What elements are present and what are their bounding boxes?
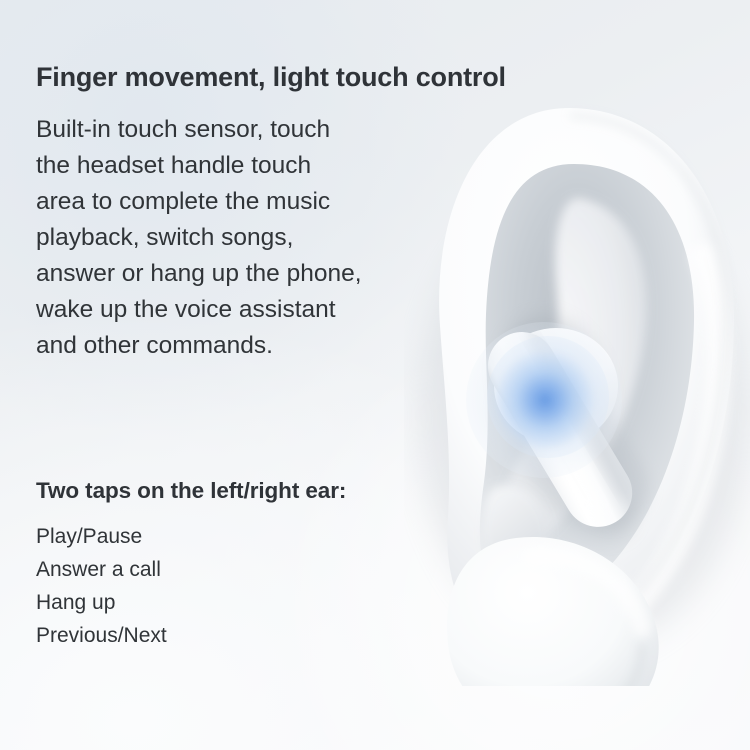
product-feature-card: Finger movement, light touch control Bui… bbox=[0, 0, 750, 750]
body-line: area to complete the music bbox=[36, 184, 416, 220]
body-line: wake up the voice assistant bbox=[36, 292, 416, 328]
list-item: Play/Pause bbox=[36, 520, 167, 553]
human-ear bbox=[404, 86, 750, 686]
body-copy: Built-in touch sensor, touch the headset… bbox=[36, 112, 416, 364]
gesture-section-heading: Two taps on the left/right ear: bbox=[36, 478, 346, 504]
body-line: answer or hang up the phone, bbox=[36, 256, 416, 292]
body-line: the headset handle touch bbox=[36, 148, 416, 184]
list-item: Hang up bbox=[36, 586, 167, 619]
body-line: and other commands. bbox=[36, 328, 416, 364]
list-item: Previous/Next bbox=[36, 619, 167, 652]
gesture-action-list: Play/Pause Answer a call Hang up Previou… bbox=[36, 520, 167, 652]
list-item: Answer a call bbox=[36, 553, 167, 586]
body-line: Built-in touch sensor, touch bbox=[36, 112, 416, 148]
copy-column: Finger movement, light touch control Bui… bbox=[36, 0, 436, 750]
headline: Finger movement, light touch control bbox=[36, 62, 506, 93]
body-line: playback, switch songs, bbox=[36, 220, 416, 256]
